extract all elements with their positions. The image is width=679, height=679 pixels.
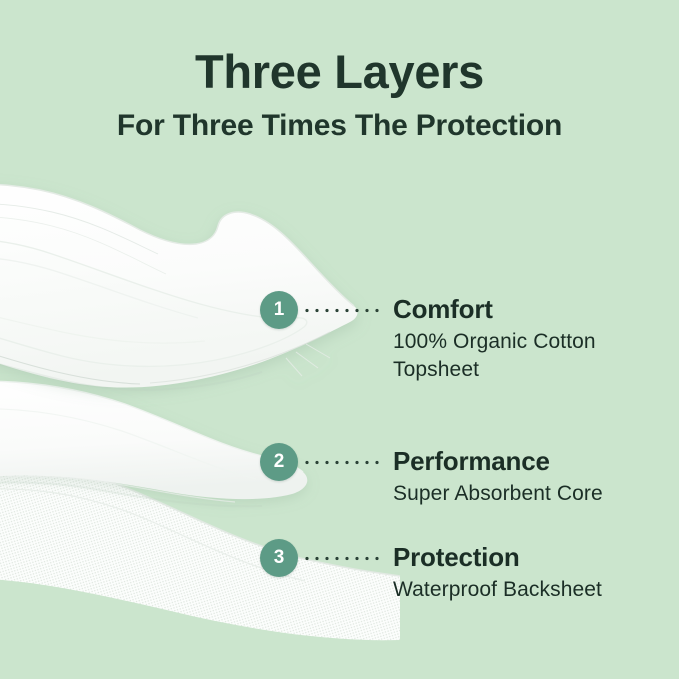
callout-description-2: Super Absorbent Core xyxy=(393,477,663,508)
page-subtitle: For Three Times The Protection xyxy=(0,100,679,145)
callout-badge-3: 3 xyxy=(260,539,298,577)
callout-description-1: 100% Organic Cotton Topsheet xyxy=(393,325,663,384)
page-title: Three Layers xyxy=(0,0,679,100)
callout-text-2: Performance Super Absorbent Core xyxy=(393,445,663,508)
callout-connector-1 xyxy=(302,308,380,313)
callout-heading-3: Protection xyxy=(393,541,663,573)
header: Three Layers For Three Times The Protect… xyxy=(0,0,679,145)
three-layers-infographic: Three Layers For Three Times The Protect… xyxy=(0,0,679,679)
callout-text-3: Protection Waterproof Backsheet xyxy=(393,541,663,604)
callout-description-3: Waterproof Backsheet xyxy=(393,573,663,604)
callout-connector-3 xyxy=(302,556,384,561)
callout-heading-1: Comfort xyxy=(393,293,663,325)
callout-text-1: Comfort 100% Organic Cotton Topsheet xyxy=(393,293,663,384)
callout-heading-2: Performance xyxy=(393,445,663,477)
callout-badge-1: 1 xyxy=(260,291,298,329)
pad-layer-1-topsheet xyxy=(0,184,357,388)
callout-connector-2 xyxy=(302,460,384,465)
callout-badge-2: 2 xyxy=(260,443,298,481)
